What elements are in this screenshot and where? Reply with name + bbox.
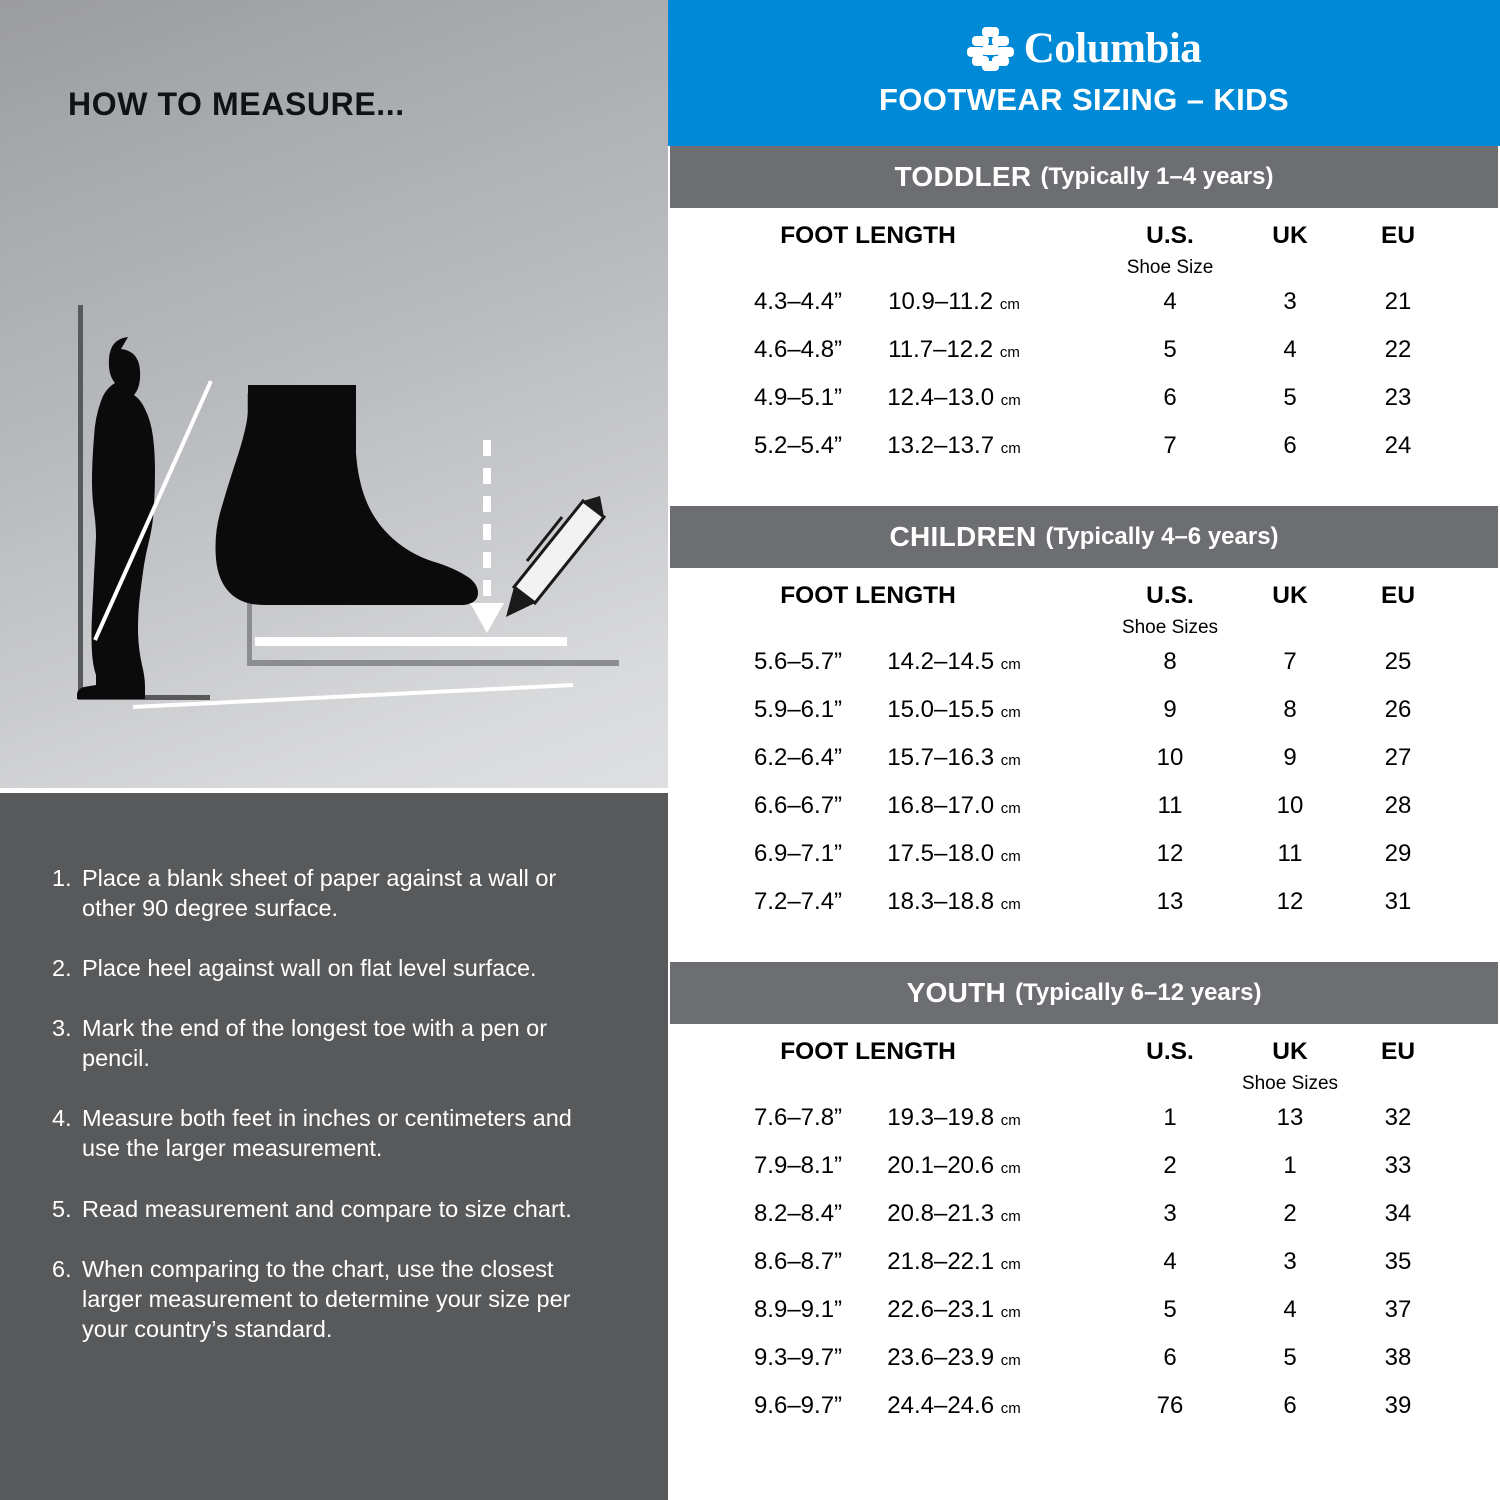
list-item-number: 5. bbox=[52, 1194, 82, 1224]
paper-sheet-line bbox=[255, 637, 567, 646]
cell-eu: 37 bbox=[1385, 1296, 1412, 1324]
column-header-shoe-size-note: Shoe Size bbox=[1127, 257, 1214, 279]
cell-us: 3 bbox=[1163, 1200, 1176, 1228]
cell-us: 7 bbox=[1163, 432, 1176, 460]
table-row: 7.2–7.4” 18.3–18.8 cm 13 12 31 bbox=[668, 882, 1500, 930]
cell-inches: 5.9–6.1” bbox=[754, 696, 842, 724]
column-header-foot-length: FOOT LENGTH bbox=[780, 1038, 956, 1066]
list-item-text: Read measurement and compare to size cha… bbox=[82, 1194, 616, 1224]
cell-us: 5 bbox=[1163, 336, 1176, 364]
cell-us: 9 bbox=[1163, 696, 1176, 724]
cell-inches: 8.9–9.1” bbox=[754, 1296, 842, 1324]
illustration-panel: HOW TO MEASURE... bbox=[0, 0, 668, 788]
cell-eu: 32 bbox=[1385, 1104, 1412, 1132]
section-title: YOUTH bbox=[907, 977, 1007, 1009]
table-row: 5.6–5.7” 14.2–14.5 cm 8 7 25 bbox=[668, 642, 1500, 690]
list-item-text: Place heel against wall on flat level su… bbox=[82, 953, 616, 983]
paper-floor-edge bbox=[247, 660, 619, 666]
cell-uk: 5 bbox=[1283, 1344, 1296, 1372]
list-item-number: 3. bbox=[52, 1013, 82, 1073]
list-item: 6. When comparing to the chart, use the … bbox=[52, 1254, 616, 1344]
column-header-uk: UK bbox=[1272, 222, 1307, 250]
cell-uk: 4 bbox=[1283, 1296, 1296, 1324]
column-header-foot-length: FOOT LENGTH bbox=[780, 222, 956, 250]
cell-eu: 23 bbox=[1385, 384, 1412, 412]
foot-silhouette bbox=[216, 385, 479, 605]
list-item: 4. Measure both feet in inches or centim… bbox=[52, 1103, 616, 1163]
brand-logo: Columbia bbox=[668, 22, 1500, 74]
table-spacer bbox=[668, 474, 1500, 500]
cell-inches: 8.6–8.7” bbox=[754, 1248, 842, 1276]
instructions-list: 1. Place a blank sheet of paper against … bbox=[52, 863, 616, 1344]
cell-uk: 11 bbox=[1278, 840, 1303, 868]
table-row: 7.6–7.8” 19.3–19.8 cm 1 13 32 bbox=[668, 1098, 1500, 1146]
cell-us: 8 bbox=[1163, 648, 1176, 676]
cell-uk: 4 bbox=[1283, 336, 1296, 364]
cell-eu: 35 bbox=[1385, 1248, 1412, 1276]
cell-uk: 6 bbox=[1283, 1392, 1296, 1420]
table-row: 8.2–8.4” 20.8–21.3 cm 3 2 34 bbox=[668, 1194, 1500, 1242]
cell-uk: 1 bbox=[1283, 1152, 1296, 1180]
column-header-eu: EU bbox=[1381, 582, 1415, 610]
brand-subtitle: FOOTWEAR SIZING – KIDS bbox=[668, 82, 1500, 118]
cell-inches: 9.6–9.7” bbox=[754, 1392, 842, 1420]
cell-inches: 8.2–8.4” bbox=[754, 1200, 842, 1228]
cell-eu: 24 bbox=[1385, 432, 1412, 460]
cell-inches: 5.6–5.7” bbox=[754, 648, 842, 676]
table-row: 4.3–4.4” 10.9–11.2 cm 4 3 21 bbox=[668, 282, 1500, 330]
table-header-row: FOOT LENGTH U.S. Shoe Sizes UK EU bbox=[668, 568, 1500, 642]
cell-cm: 20.8–21.3 cm bbox=[887, 1200, 1020, 1228]
cell-eu: 39 bbox=[1385, 1392, 1412, 1420]
cell-cm: 16.8–17.0 cm bbox=[887, 792, 1020, 820]
cell-eu: 29 bbox=[1385, 840, 1412, 868]
list-item: 2. Place heel against wall on flat level… bbox=[52, 953, 616, 983]
table-row: 4.9–5.1” 12.4–13.0 cm 6 5 23 bbox=[668, 378, 1500, 426]
cell-us: 76 bbox=[1157, 1392, 1184, 1420]
table-header-row: FOOT LENGTH U.S. Shoe Size UK EU bbox=[668, 208, 1500, 282]
column-header-us: U.S. bbox=[1146, 222, 1194, 250]
cell-us: 5 bbox=[1163, 1296, 1176, 1324]
instructions-panel: 1. Place a blank sheet of paper against … bbox=[0, 793, 668, 1500]
section-age-range: (Typically 4–6 years) bbox=[1046, 523, 1279, 551]
columbia-diamond-logo-icon bbox=[967, 25, 1015, 71]
cell-cm: 23.6–23.9 cm bbox=[887, 1344, 1020, 1372]
column-header-shoe-size-note: Shoe Sizes bbox=[1122, 617, 1218, 639]
table-row: 6.9–7.1” 17.5–18.0 cm 12 11 29 bbox=[668, 834, 1500, 882]
cell-eu: 34 bbox=[1385, 1200, 1412, 1228]
cell-us: 10 bbox=[1157, 744, 1184, 772]
table-row: 9.6–9.7” 24.4–24.6 cm 76 6 39 bbox=[668, 1386, 1500, 1434]
cell-us: 11 bbox=[1158, 792, 1183, 820]
cell-us: 4 bbox=[1163, 288, 1176, 316]
cell-eu: 25 bbox=[1385, 648, 1412, 676]
cell-eu: 22 bbox=[1385, 336, 1412, 364]
table-row: 5.9–6.1” 15.0–15.5 cm 9 8 26 bbox=[668, 690, 1500, 738]
left-column: HOW TO MEASURE... bbox=[0, 0, 668, 1500]
column-header-shoe-size-note: Shoe Sizes bbox=[1242, 1073, 1338, 1095]
arrow-head-icon bbox=[470, 603, 504, 633]
column-header-eu: EU bbox=[1381, 1038, 1415, 1066]
cell-eu: 31 bbox=[1385, 888, 1412, 916]
table-spacer bbox=[668, 930, 1500, 956]
cell-uk: 7 bbox=[1283, 648, 1296, 676]
cell-uk: 13 bbox=[1277, 1104, 1304, 1132]
column-header-foot-length: FOOT LENGTH bbox=[780, 582, 956, 610]
cell-cm: 12.4–13.0 cm bbox=[887, 384, 1020, 412]
brand-header: Columbia FOOTWEAR SIZING – KIDS bbox=[668, 0, 1500, 146]
size-table-toddler: FOOT LENGTH U.S. Shoe Size UK EU 4.3–4.4… bbox=[668, 208, 1500, 506]
cell-eu: 38 bbox=[1385, 1344, 1412, 1372]
table-row: 4.6–4.8” 11.7–12.2 cm 5 4 22 bbox=[668, 330, 1500, 378]
cell-uk: 5 bbox=[1283, 384, 1296, 412]
cell-inches: 7.2–7.4” bbox=[754, 888, 842, 916]
cell-uk: 3 bbox=[1283, 288, 1296, 316]
cell-us: 13 bbox=[1157, 888, 1184, 916]
measure-foot-illustration bbox=[0, 285, 668, 745]
cell-cm: 15.7–16.3 cm bbox=[887, 744, 1020, 772]
cell-inches: 4.3–4.4” bbox=[754, 288, 842, 316]
person-silhouette bbox=[77, 337, 155, 699]
table-row: 8.6–8.7” 21.8–22.1 cm 4 3 35 bbox=[668, 1242, 1500, 1290]
cell-inches: 6.6–6.7” bbox=[754, 792, 842, 820]
column-header-uk: UK bbox=[1272, 582, 1307, 610]
table-row: 9.3–9.7” 23.6–23.9 cm 6 5 38 bbox=[668, 1338, 1500, 1386]
section-band-children: CHILDREN (Typically 4–6 years) bbox=[670, 506, 1498, 568]
right-column: Columbia FOOTWEAR SIZING – KIDS TODDLER … bbox=[668, 0, 1500, 1500]
section-band-youth: YOUTH (Typically 6–12 years) bbox=[670, 962, 1498, 1024]
cell-cm: 11.7–12.2 cm bbox=[888, 336, 1020, 364]
cell-uk: 2 bbox=[1283, 1200, 1296, 1228]
cell-cm: 21.8–22.1 cm bbox=[887, 1248, 1020, 1276]
list-item-text: Place a blank sheet of paper against a w… bbox=[82, 863, 616, 923]
table-header-row: FOOT LENGTH U.S. UK Shoe Sizes EU bbox=[668, 1024, 1500, 1098]
table-row: 7.9–8.1” 20.1–20.6 cm 2 1 33 bbox=[668, 1146, 1500, 1194]
cell-uk: 9 bbox=[1283, 744, 1296, 772]
cell-inches: 7.9–8.1” bbox=[754, 1152, 842, 1180]
table-row: 8.9–9.1” 22.6–23.1 cm 5 4 37 bbox=[668, 1290, 1500, 1338]
cell-us: 6 bbox=[1163, 384, 1176, 412]
size-table-youth: FOOT LENGTH U.S. UK Shoe Sizes EU 7.6–7.… bbox=[668, 1024, 1500, 1440]
brand-name: Columbia bbox=[1024, 27, 1202, 70]
cell-uk: 10 bbox=[1277, 792, 1304, 820]
cell-inches: 6.9–7.1” bbox=[754, 840, 842, 868]
list-item: 1. Place a blank sheet of paper against … bbox=[52, 863, 616, 923]
list-item-text: When comparing to the chart, use the clo… bbox=[82, 1254, 616, 1344]
cell-cm: 17.5–18.0 cm bbox=[887, 840, 1020, 868]
column-header-us: U.S. bbox=[1146, 582, 1194, 610]
wall-line bbox=[78, 305, 83, 700]
cell-eu: 26 bbox=[1385, 696, 1412, 724]
cell-inches: 4.9–5.1” bbox=[754, 384, 842, 412]
cell-inches: 9.3–9.7” bbox=[754, 1344, 842, 1372]
page-title: HOW TO MEASURE... bbox=[68, 86, 405, 123]
section-band-toddler: TODDLER (Typically 1–4 years) bbox=[670, 146, 1498, 208]
list-item-text: Mark the end of the longest toe with a p… bbox=[82, 1013, 616, 1073]
cell-us: 6 bbox=[1163, 1344, 1176, 1372]
list-item-number: 2. bbox=[52, 953, 82, 983]
cell-cm: 13.2–13.7 cm bbox=[887, 432, 1020, 460]
list-item: 5. Read measurement and compare to size … bbox=[52, 1194, 616, 1224]
cell-cm: 20.1–20.6 cm bbox=[887, 1152, 1020, 1180]
list-item-number: 4. bbox=[52, 1103, 82, 1163]
list-item: 3. Mark the end of the longest toe with … bbox=[52, 1013, 616, 1073]
cell-us: 1 bbox=[1163, 1104, 1176, 1132]
list-item-number: 1. bbox=[52, 863, 82, 923]
cell-uk: 3 bbox=[1283, 1248, 1296, 1276]
cell-eu: 21 bbox=[1385, 288, 1412, 316]
cell-cm: 10.9–11.2 cm bbox=[888, 288, 1020, 316]
cell-eu: 33 bbox=[1385, 1152, 1412, 1180]
cell-cm: 14.2–14.5 cm bbox=[887, 648, 1020, 676]
cell-inches: 5.2–5.4” bbox=[754, 432, 842, 460]
section-title: CHILDREN bbox=[889, 521, 1036, 553]
cell-us: 12 bbox=[1157, 840, 1184, 868]
table-row: 6.2–6.4” 15.7–16.3 cm 10 9 27 bbox=[668, 738, 1500, 786]
column-header-uk: UK bbox=[1272, 1038, 1307, 1066]
list-item-text: Measure both feet in inches or centimete… bbox=[82, 1103, 616, 1163]
section-title: TODDLER bbox=[895, 161, 1032, 193]
cell-us: 4 bbox=[1163, 1248, 1176, 1276]
cell-cm: 24.4–24.6 cm bbox=[887, 1392, 1020, 1420]
cell-cm: 19.3–19.8 cm bbox=[887, 1104, 1020, 1132]
section-age-range: (Typically 1–4 years) bbox=[1040, 163, 1273, 191]
cell-cm: 18.3–18.8 cm bbox=[887, 888, 1020, 916]
cell-eu: 27 bbox=[1385, 744, 1412, 772]
column-header-eu: EU bbox=[1381, 222, 1415, 250]
size-chart-page: HOW TO MEASURE... bbox=[0, 0, 1500, 1500]
section-age-range: (Typically 6–12 years) bbox=[1015, 979, 1261, 1007]
cell-inches: 7.6–7.8” bbox=[754, 1104, 842, 1132]
cell-cm: 22.6–23.1 cm bbox=[887, 1296, 1020, 1324]
cell-uk: 12 bbox=[1277, 888, 1304, 916]
cell-uk: 6 bbox=[1283, 432, 1296, 460]
cell-uk: 8 bbox=[1283, 696, 1296, 724]
pencil-icon bbox=[506, 496, 604, 617]
list-item-number: 6. bbox=[52, 1254, 82, 1344]
cell-inches: 4.6–4.8” bbox=[754, 336, 842, 364]
size-table-children: FOOT LENGTH U.S. Shoe Sizes UK EU 5.6–5.… bbox=[668, 568, 1500, 962]
table-row: 6.6–6.7” 16.8–17.0 cm 11 10 28 bbox=[668, 786, 1500, 834]
cell-cm: 15.0–15.5 cm bbox=[887, 696, 1020, 724]
cell-eu: 28 bbox=[1385, 792, 1412, 820]
cell-inches: 6.2–6.4” bbox=[754, 744, 842, 772]
column-header-us: U.S. bbox=[1146, 1038, 1194, 1066]
table-row: 5.2–5.4” 13.2–13.7 cm 7 6 24 bbox=[668, 426, 1500, 474]
cell-us: 2 bbox=[1163, 1152, 1176, 1180]
